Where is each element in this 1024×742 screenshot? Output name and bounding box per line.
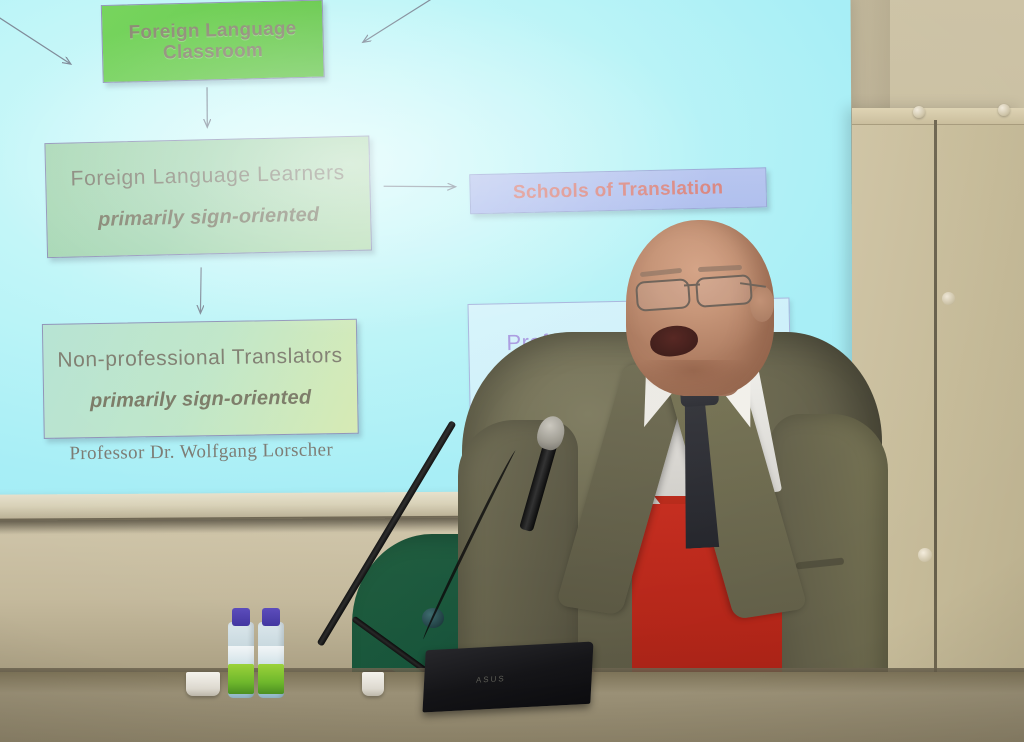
bottle-label	[258, 664, 284, 694]
laptop: ASUS	[422, 641, 593, 712]
bottle-label	[228, 664, 254, 694]
box-title: Non-professional Translators	[57, 344, 343, 372]
slide-box-foreign-language-learners: Foreign Language Learners primarily sign…	[44, 135, 372, 258]
speaker-chin-shadow	[638, 360, 748, 394]
box-title-line1: Foreign Language	[128, 18, 296, 44]
box-title-line2: Classroom	[163, 40, 264, 64]
arrow-top-right-in	[362, 0, 436, 42]
bottle-highlight	[228, 646, 254, 666]
box-subtitle: primarily sign-oriented	[90, 386, 312, 413]
microphone-cable	[420, 449, 518, 641]
speaker-ear	[750, 286, 774, 322]
box-title: Foreign Language Learners	[70, 162, 345, 192]
water-bottles	[228, 606, 292, 698]
lecture-photo-scene: Foreign Language Classroom Foreign Langu…	[0, 0, 1024, 742]
microphone-body	[519, 436, 559, 532]
arrow-top-left-in	[0, 14, 71, 64]
arrow-learners-to-nonprofessional	[200, 267, 201, 313]
bottle-cap	[262, 608, 280, 626]
slide-box-schools-of-translation: Schools of Translation	[469, 167, 767, 214]
microphone-windscreen	[534, 413, 568, 453]
bottle-highlight	[258, 646, 284, 666]
cabinet-door-gap	[934, 120, 937, 730]
cabinet-knob-right	[998, 104, 1010, 116]
eyeglasses-lens-left	[635, 278, 691, 312]
paper-cup	[362, 672, 384, 696]
bottle-cap	[232, 608, 250, 626]
cabinet-knob-left	[913, 106, 925, 118]
box-subtitle: primarily sign-oriented	[98, 203, 320, 231]
slide-box-foreign-language-classroom: Foreign Language Classroom	[101, 0, 325, 83]
cabinet-handle-upper	[942, 292, 955, 305]
cabinet-handle-lower	[918, 548, 932, 562]
eyeglasses-lens-right	[695, 274, 753, 308]
laptop-brand-label: ASUS	[476, 674, 506, 685]
box-title: Schools of Translation	[513, 177, 724, 204]
paper-cup	[186, 672, 220, 696]
arrow-learners-to-schools	[384, 186, 456, 187]
